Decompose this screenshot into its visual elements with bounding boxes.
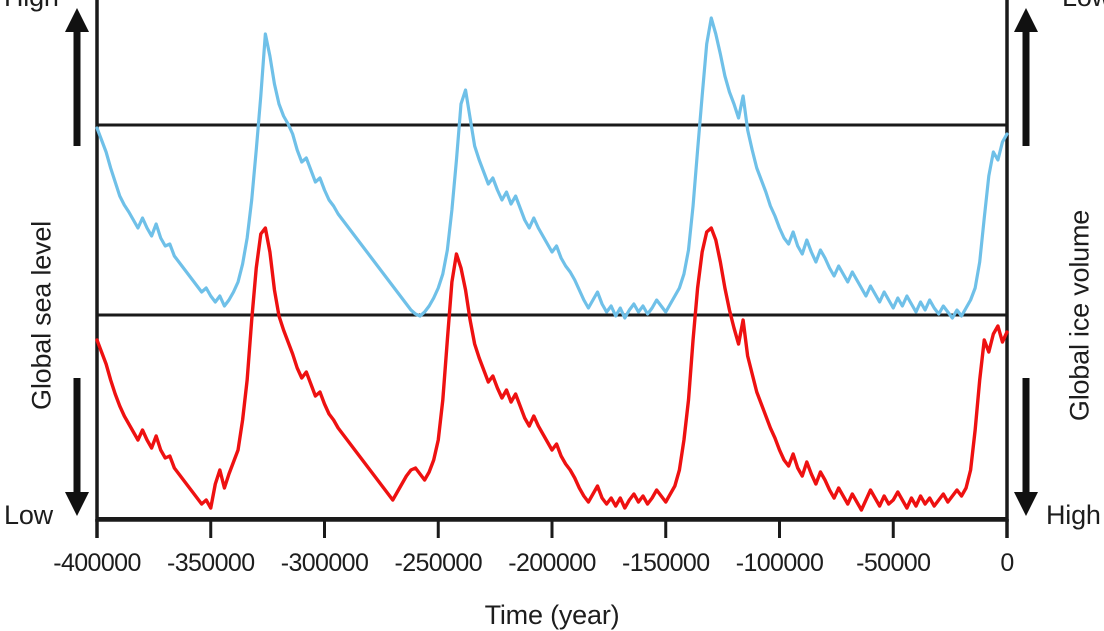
x-axis-ticks xyxy=(97,519,1007,538)
left-axis-bottom-label: Low xyxy=(4,500,53,531)
x-axis-tick-label: -350000 xyxy=(167,549,255,578)
right-axis-bottom-label: High xyxy=(1046,500,1101,531)
plot-frame xyxy=(97,0,1007,520)
x-axis-tick-label: -250000 xyxy=(394,549,482,578)
plot-canvas xyxy=(0,0,1104,621)
right-axis-top-label: Low xyxy=(1062,0,1104,13)
left-axis-title: Global sea level xyxy=(27,166,58,466)
arrow-up-icon xyxy=(1013,6,1039,146)
x-axis-tick-label: -400000 xyxy=(53,549,141,578)
x-axis-tick-label: -300000 xyxy=(281,549,369,578)
arrow-down-icon xyxy=(1013,378,1039,518)
arrow-down-icon xyxy=(64,378,90,518)
x-axis-tick-label: -100000 xyxy=(736,549,824,578)
x-axis-tick-label: -50000 xyxy=(856,549,930,578)
sea-level-ice-volume-figure: Global sea level High Low Global ice vol… xyxy=(0,0,1104,621)
x-axis-title: Time (year) xyxy=(0,600,1104,631)
x-axis-tick-label: -200000 xyxy=(508,549,596,578)
x-axis-tick-label: -150000 xyxy=(622,549,710,578)
x-axis-tick-label: 0 xyxy=(1000,549,1013,578)
left-axis-top-label: High xyxy=(4,0,59,13)
right-axis-title: Global ice volume xyxy=(1065,166,1096,466)
arrow-up-icon xyxy=(64,6,90,146)
